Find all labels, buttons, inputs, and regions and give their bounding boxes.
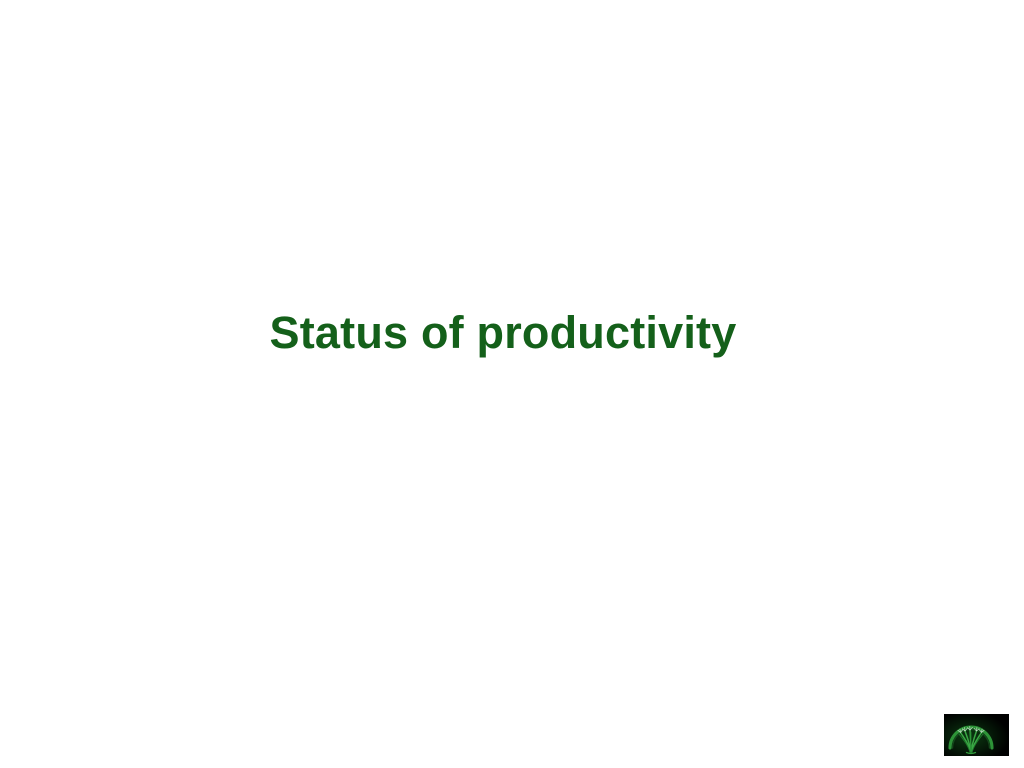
title-block: Status of productivity <box>0 306 1006 360</box>
fao-wheat-sheaf-icon <box>944 714 1009 756</box>
slide-canvas: Status of productivity <box>0 0 1024 768</box>
page-title: Status of productivity <box>0 306 1006 360</box>
logo-container <box>944 714 1009 756</box>
